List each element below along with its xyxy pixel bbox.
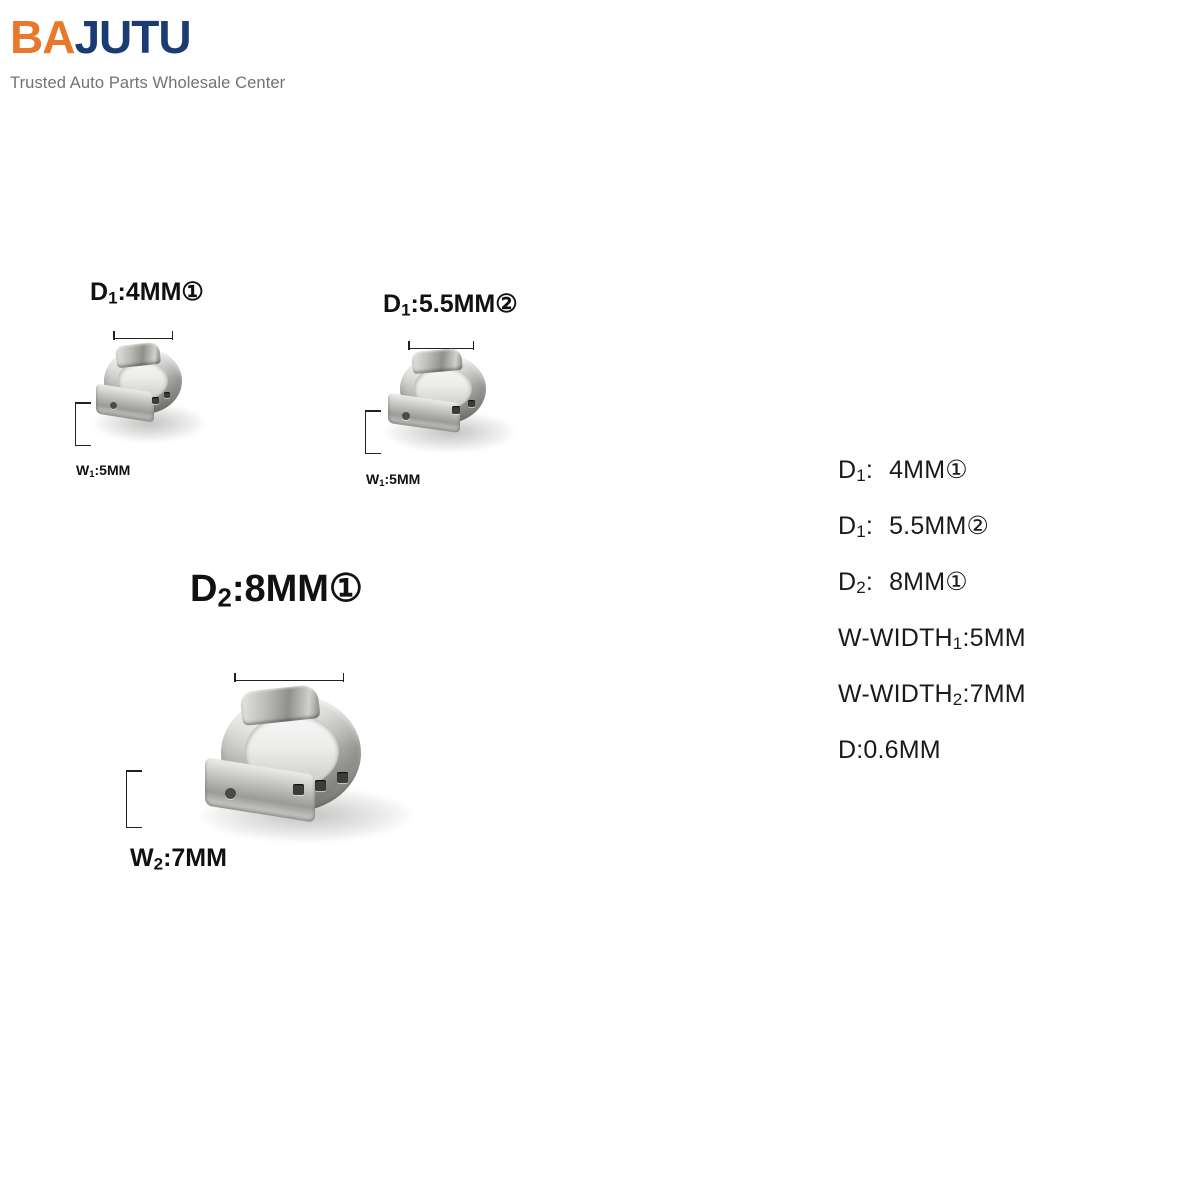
brand-wordmark-first: BA [10,11,74,63]
spec-row-d1-5-5mm: D1:5.5MM② [838,514,1178,540]
brand-tagline: Trusted Auto Parts Wholesale Center [10,74,430,93]
figure-1-caption: W1:5MM [76,463,130,480]
figure-1-diameter-dimension [113,338,173,339]
clamp-dimple [468,400,475,407]
specification-list: D1:4MM① D1:5.5MM② D2:8MM① W-WIDTH1:5MM W… [838,458,1178,794]
figure-2-width-dimension [365,410,366,454]
clamp-ear [115,342,161,368]
brand-wordmark-second: JUTU [74,11,190,63]
clamp-dimple [164,392,170,398]
clamp-tab-hole [225,788,236,799]
spec-row-d2-8mm: D2:8MM① [838,570,1178,596]
figure-2-title: D1:5.5MM② [383,292,518,319]
figure-clamp-d1-4mm: D1:4MM① W1:5MM [60,280,320,500]
clamp-tab-hole [402,412,410,420]
spec-row-width2: W-WIDTH2:7MM [838,682,1178,708]
brand-logo: BAJUTU Trusted Auto Parts Wholesale Cent… [10,14,430,93]
figure-3-clamp-image [195,688,425,853]
figure-3-width-dimension [126,770,127,828]
spec-row-d1-4mm: D1:4MM① [838,458,1178,484]
figure-clamp-d1-5-5mm: D1:5.5MM② W1:5MM [350,292,620,512]
clamp-dimple [152,397,159,404]
figure-3-title: D2:8MM① [190,570,363,613]
spec-row-width1: W-WIDTH1:5MM [838,626,1178,652]
figure-1-clamp-image [90,342,220,452]
brand-wordmark: BAJUTU [10,14,430,60]
figure-2-caption: W1:5MM [366,472,420,489]
figure-1-width-dimension [75,402,76,446]
clamp-dimple [337,772,348,783]
clamp-dimple [452,406,460,414]
figure-clamp-d2-8mm: D2:8MM① W2:7MM [110,570,470,890]
figure-3-diameter-dimension [234,680,344,681]
figure-2-clamp-image [380,350,530,465]
spec-row-thickness: D:0.6MM [838,738,1178,764]
clamp-dimple [293,784,304,795]
clamp-dimple [315,780,326,791]
clamp-tab-hole [110,402,117,409]
clamp-ear [411,348,463,374]
figure-1-title: D1:4MM① [90,280,204,307]
